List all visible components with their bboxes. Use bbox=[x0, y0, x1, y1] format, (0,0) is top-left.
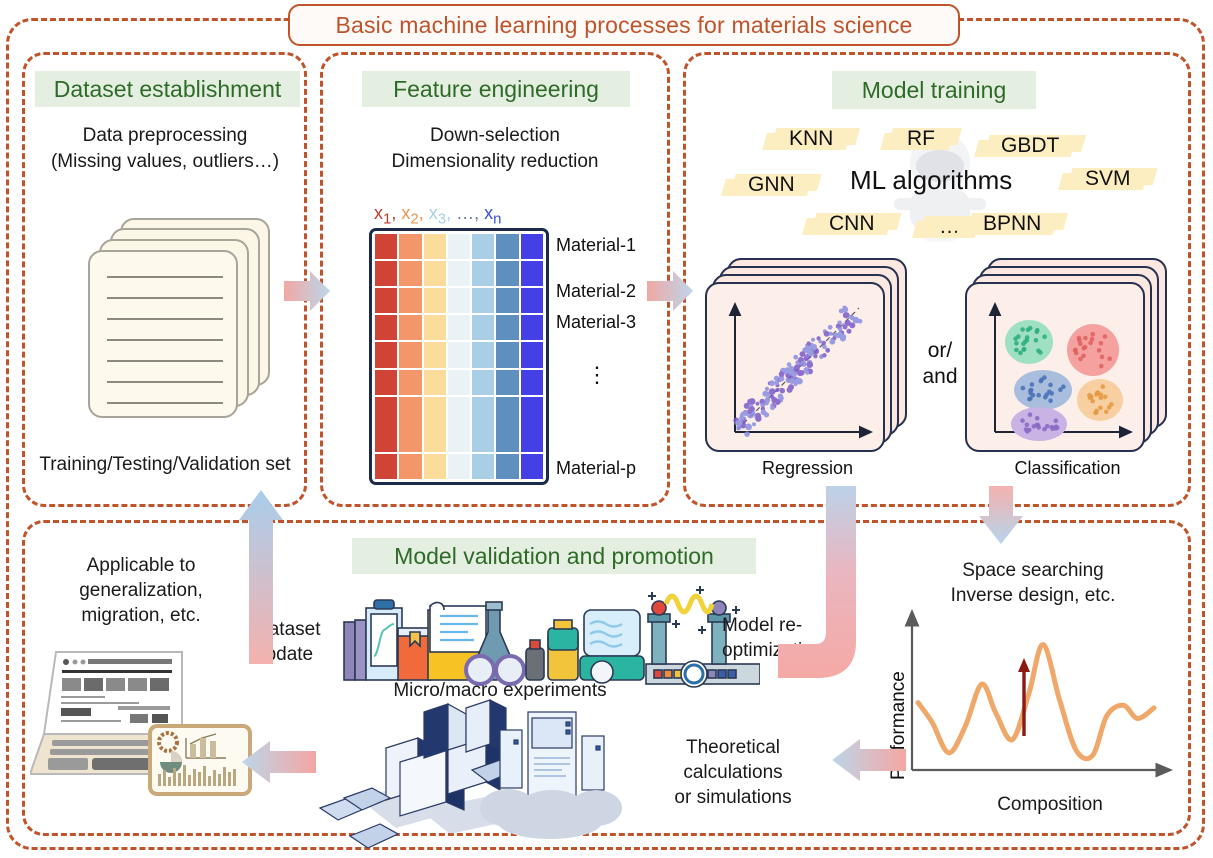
badge-feature-engineering: Feature engineering bbox=[362, 71, 630, 107]
documents-icon bbox=[88, 218, 274, 428]
dataset-line-1: Data preprocessing bbox=[34, 123, 296, 148]
scatter-plot-icon bbox=[707, 284, 887, 454]
server-rack-icon bbox=[300, 690, 660, 850]
algorithm-tag-bpnn: BPNN bbox=[973, 209, 1051, 239]
chart-xlabel: Composition bbox=[930, 792, 1170, 817]
arrow-model-reoptimization-elbow bbox=[778, 486, 908, 702]
material-row-3: Material-3 bbox=[556, 312, 636, 333]
material-row-2: Material-2 bbox=[556, 281, 636, 302]
lab-equipment-icon bbox=[340, 580, 760, 690]
or-label: or/ bbox=[918, 338, 962, 364]
material-row-ellipsis: ⋮ bbox=[586, 362, 610, 388]
arrow-dataset-to-feature bbox=[282, 268, 332, 314]
badge-model-training: Model training bbox=[832, 71, 1036, 109]
algorithm-tag-gnn: GNN bbox=[738, 170, 805, 200]
material-row-1: Material-1 bbox=[556, 235, 636, 256]
theoretical-line-1: Theoretical bbox=[648, 735, 818, 760]
space-searching-line-2: Inverse design, etc. bbox=[908, 583, 1158, 608]
dataset-line-2: (Missing values, outliers…) bbox=[26, 149, 304, 174]
algorithm-tag-cnn: CNN bbox=[819, 209, 885, 239]
regression-card-stack bbox=[705, 258, 915, 458]
algorithm-tag-svm: SVM bbox=[1075, 164, 1141, 194]
performance-chart bbox=[886, 608, 1176, 798]
or-and-label: or/ and bbox=[918, 338, 962, 390]
theoretical-line-2: calculations bbox=[648, 760, 818, 785]
theoretical-line-3: or simulations bbox=[640, 785, 826, 810]
space-searching-line-1: Space searching bbox=[908, 558, 1158, 583]
cluster-plot-icon bbox=[967, 284, 1147, 454]
feature-line-1: Down-selection bbox=[330, 123, 660, 148]
diagram-root: Basic machine learning processes for mat… bbox=[0, 0, 1213, 858]
classification-card-stack bbox=[965, 258, 1175, 458]
arrow-feature-to-model bbox=[645, 268, 695, 314]
material-row-p: Material-p bbox=[556, 458, 636, 479]
applicable-line-2: generalization, bbox=[36, 578, 246, 603]
feature-line-2: Dimensionality reduction bbox=[330, 149, 660, 174]
arrow-to-theoretical bbox=[830, 736, 908, 784]
algorithm-tag-gbdt: GBDT bbox=[991, 131, 1069, 161]
badge-dataset-establishment: Dataset establishment bbox=[35, 71, 300, 107]
feature-axis-labels: x1, x2, x3, …, xn bbox=[374, 203, 549, 228]
classification-caption: Classification bbox=[965, 458, 1170, 479]
regression-caption: Regression bbox=[705, 458, 910, 479]
applicable-line-3: migration, etc. bbox=[36, 603, 246, 628]
ml-algorithms-label: ML algorithms bbox=[850, 165, 1012, 196]
algorithm-tag-rf: RF bbox=[897, 124, 945, 154]
algorithm-tag-knn: KNN bbox=[779, 124, 843, 154]
badge-model-validation: Model validation and promotion bbox=[352, 538, 756, 574]
arrow-model-to-validation bbox=[976, 486, 1026, 548]
arrow-validation-to-dataset bbox=[236, 486, 286, 666]
arrow-to-laptop bbox=[240, 738, 318, 786]
diagram-title-text: Basic machine learning processes for mat… bbox=[335, 12, 912, 39]
diagram-title: Basic machine learning processes for mat… bbox=[288, 4, 960, 46]
feature-matrix-icon bbox=[369, 228, 549, 485]
and-label: and bbox=[918, 364, 962, 390]
dataset-caption: Training/Testing/Validation set bbox=[28, 452, 302, 477]
applicable-line-1: Applicable to bbox=[36, 553, 246, 578]
laptop-icon bbox=[30, 638, 270, 818]
